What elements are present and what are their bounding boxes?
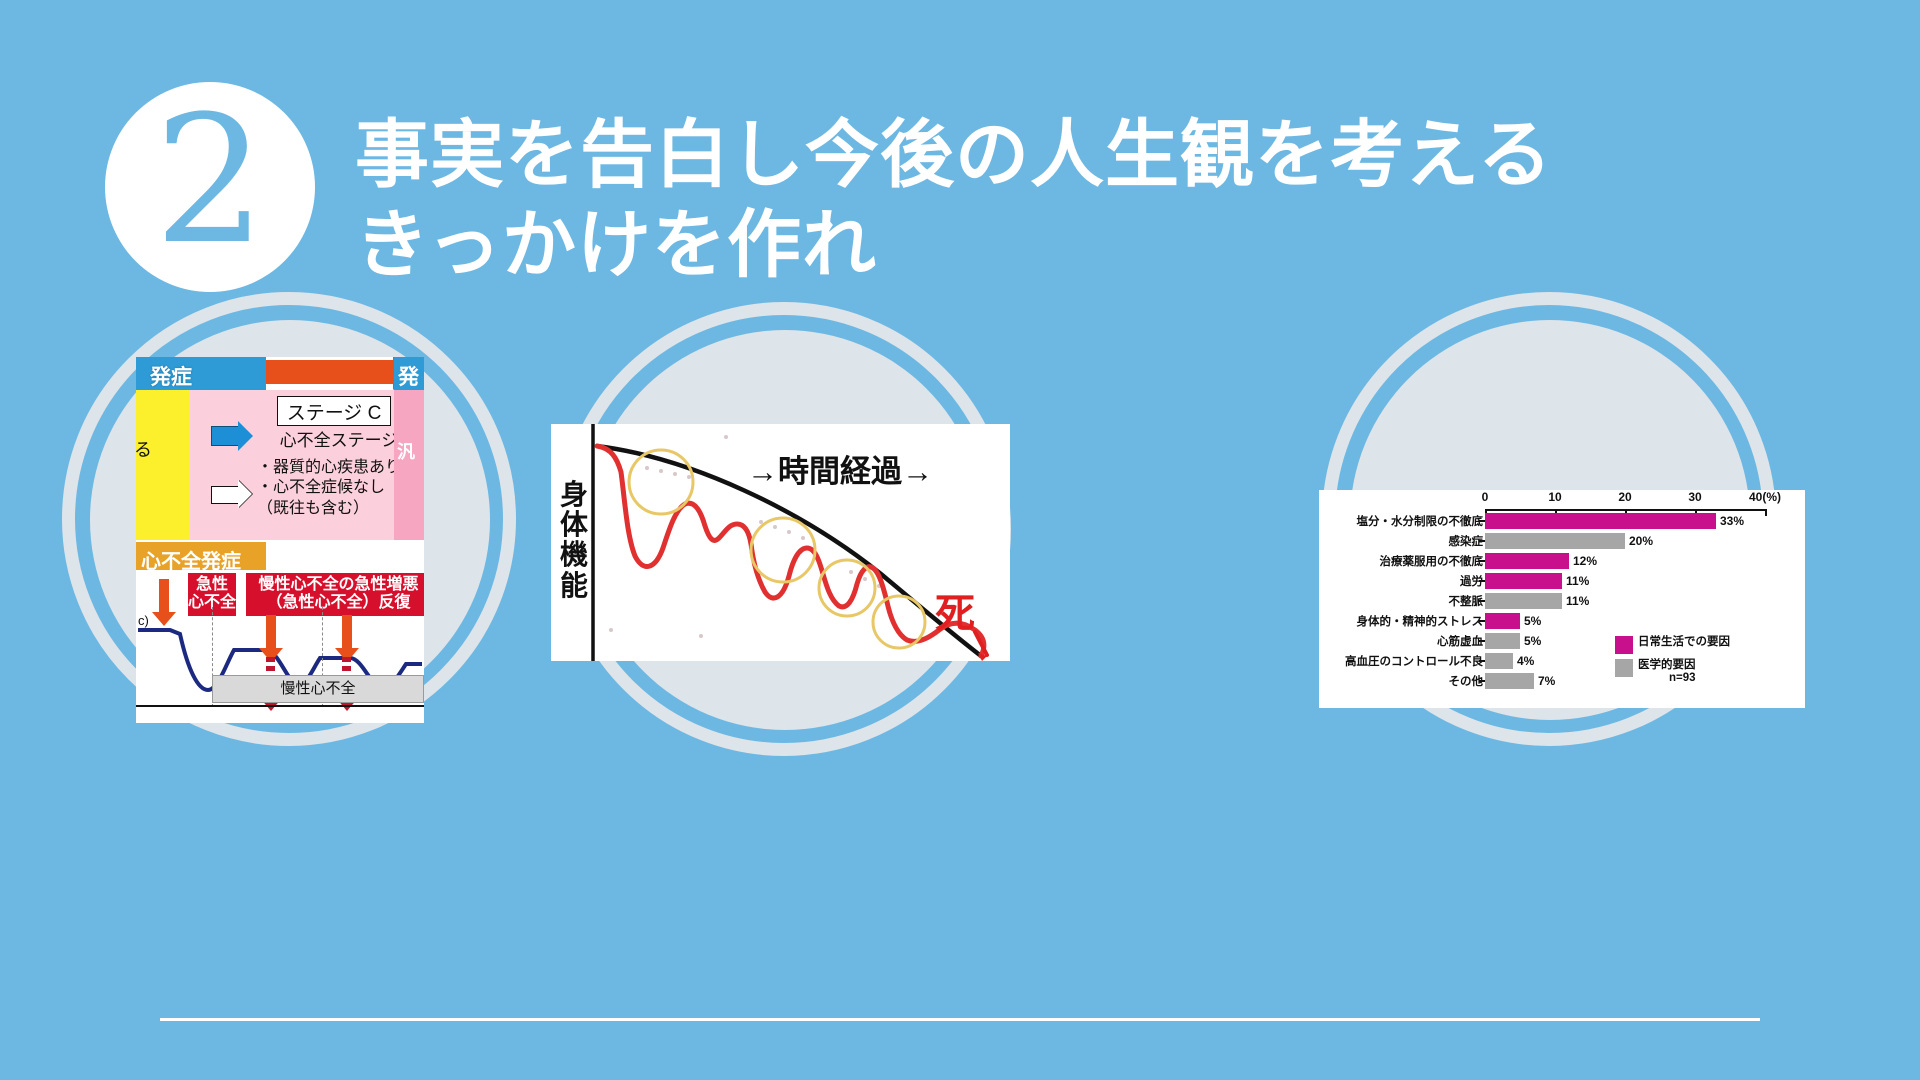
- image-heart-failure-stage-diagram: 発症 発 る ステージ C 心不全ステージ ・器質的心疾患あり ・心不全症候なし…: [136, 357, 424, 723]
- chart-bar: [1485, 633, 1520, 649]
- chart-bar-label: 治療薬服用の不徹底: [1380, 553, 1484, 569]
- stage-y-axis-note: c): [138, 613, 149, 628]
- relapse-down-arrow-icon-1: [266, 615, 276, 649]
- chart-bar-label: その他: [1449, 673, 1484, 689]
- chart-bar-row: 過労11%: [1319, 572, 1805, 591]
- chart-sample-size: n=93: [1638, 672, 1696, 685]
- stage-band-pink-right: 汎: [394, 390, 424, 540]
- chart-legend: 日常生活での要因医学的要因n=93: [1615, 636, 1730, 690]
- page-title: 事実を告白し今後の人生観を考える きっかけを作れ: [355, 110, 1685, 291]
- chart-bar-value: 4%: [1517, 654, 1534, 668]
- stage-band-pink: ステージ C 心不全ステージ ・器質的心疾患あり ・心不全症候なし （既往も含む…: [189, 390, 394, 540]
- onset-label-left: 発症: [136, 357, 266, 390]
- stage-right-edge-text: 汎: [397, 438, 415, 464]
- onset-orange-bar-text: 心不全発症: [141, 545, 241, 574]
- chart-bar: [1485, 613, 1520, 629]
- chart-bar-label: 不整脈: [1449, 593, 1484, 609]
- chart-x-tick-30: 30: [1688, 490, 1701, 504]
- onset-label-right: 発: [394, 357, 424, 390]
- chart-bar-row: 感染症20%: [1319, 532, 1805, 551]
- stage-c-box: ステージ C: [277, 396, 391, 426]
- chart-bar-rows: 塩分・水分制限の不徹底33%感染症20%治療薬服用の不徹底12%過労11%不整脈…: [1319, 512, 1805, 692]
- blue-arrow-icon: [211, 426, 239, 446]
- chart-bar-row: 不整脈11%: [1319, 592, 1805, 611]
- chart-bar: [1485, 513, 1716, 529]
- image-physical-function-decline-curve: 身体機能 →時間経過→ 死: [551, 424, 1010, 661]
- chronic-heart-failure-bar: 慢性心不全: [212, 675, 424, 703]
- chart-x-axis-tick-labels: 010203040(%): [1319, 490, 1805, 508]
- chart-bar-row: 心筋虚血5%: [1319, 632, 1805, 651]
- chart-legend-swatch: [1615, 636, 1633, 654]
- white-arrow-icon: [211, 486, 238, 504]
- chart-bar-value: 11%: [1566, 594, 1589, 608]
- chart-bar-label: 感染症: [1449, 533, 1484, 549]
- onset-label-right-text: 発: [398, 361, 419, 391]
- chronic-exacerbation-box: 慢性心不全の急性増悪（急性心不全）反復: [246, 573, 424, 616]
- page-title-line-2: きっかけを作れ: [355, 200, 1685, 290]
- relapse-down-arrow-icon-2: [342, 615, 352, 649]
- chart-bar-label: 塩分・水分制限の不徹底: [1357, 513, 1484, 529]
- stage-left-edge-char: る: [136, 436, 158, 462]
- chart-bar-row: その他7%: [1319, 672, 1805, 691]
- chart-bar-value: 5%: [1524, 634, 1541, 648]
- bar-chart: 010203040(%) 塩分・水分制限の不徹底33%感染症20%治療薬服用の不…: [1319, 490, 1805, 708]
- stage-baseline: [136, 705, 424, 707]
- chart-legend-item: 医学的要因n=93: [1615, 659, 1730, 685]
- decline-y-axis-label: 身体機能: [559, 480, 589, 601]
- chart-bar-label: 身体的・精神的ストレス: [1357, 613, 1484, 629]
- page-title-line-1: 事実を告白し今後の人生観を考える: [355, 110, 1685, 200]
- chart-legend-label: 医学的要因n=93: [1638, 659, 1696, 685]
- chart-bar-label: 心筋虚血: [1437, 633, 1483, 649]
- onset-down-arrow-icon: [159, 579, 169, 613]
- chart-bar-row: 治療薬服用の不徹底12%: [1319, 552, 1805, 571]
- bottom-divider-rule: [160, 1018, 1760, 1021]
- chart-bar-value: 5%: [1524, 614, 1541, 628]
- slide-header: 2 事実を告白し今後の人生観を考える きっかけを作れ: [0, 0, 1920, 330]
- chart-bar-value: 11%: [1566, 574, 1589, 588]
- onset-orange-bar: 心不全発症: [136, 542, 266, 570]
- chart-bar: [1485, 673, 1534, 689]
- chart-bar: [1485, 573, 1562, 589]
- chart-bar-label: 高血圧のコントロール不良: [1345, 653, 1483, 669]
- section-number-badge: 2: [105, 82, 315, 292]
- stage-band-row: る ステージ C 心不全ステージ ・器質的心疾患あり ・心不全症候なし （既往も…: [136, 390, 424, 540]
- chart-legend-swatch: [1615, 659, 1633, 677]
- chart-legend-label: 日常生活での要因: [1638, 636, 1730, 649]
- chart-bar: [1485, 553, 1569, 569]
- chart-bar-row: 高血圧のコントロール不良4%: [1319, 652, 1805, 671]
- chart-bar-value: 7%: [1538, 674, 1555, 688]
- section-number-text: 2: [154, 93, 266, 269]
- chart-bar-value: 12%: [1573, 554, 1597, 568]
- chart-bar-value: 20%: [1629, 534, 1653, 548]
- chart-bar: [1485, 593, 1562, 609]
- stage-band-yellow: [136, 390, 189, 540]
- chart-legend-item: 日常生活での要因: [1615, 636, 1730, 654]
- chart-x-tick-0: 0: [1482, 490, 1489, 504]
- onset-label-left-text: 発症: [150, 361, 192, 391]
- stage-top-row: 発症 発: [136, 357, 424, 390]
- image-exacerbation-causes-bar-chart: 010203040(%) 塩分・水分制限の不徹底33%感染症20%治療薬服用の不…: [1319, 490, 1805, 708]
- chart-bar-value: 33%: [1720, 514, 1744, 528]
- chart-x-tick-20: 20: [1618, 490, 1631, 504]
- chart-bar: [1485, 533, 1625, 549]
- decline-death-label: 死: [935, 581, 975, 639]
- chart-x-tick-10: 10: [1548, 490, 1561, 504]
- orange-progress-arrow-icon: [266, 360, 394, 384]
- chart-bar-row: 身体的・精神的ストレス5%: [1319, 612, 1805, 631]
- decline-time-axis-label: →時間経過→: [747, 446, 933, 491]
- chart-bar-row: 塩分・水分制限の不徹底33%: [1319, 512, 1805, 531]
- chart-bar: [1485, 653, 1513, 669]
- chart-x-tick-40: 40(%): [1749, 490, 1781, 504]
